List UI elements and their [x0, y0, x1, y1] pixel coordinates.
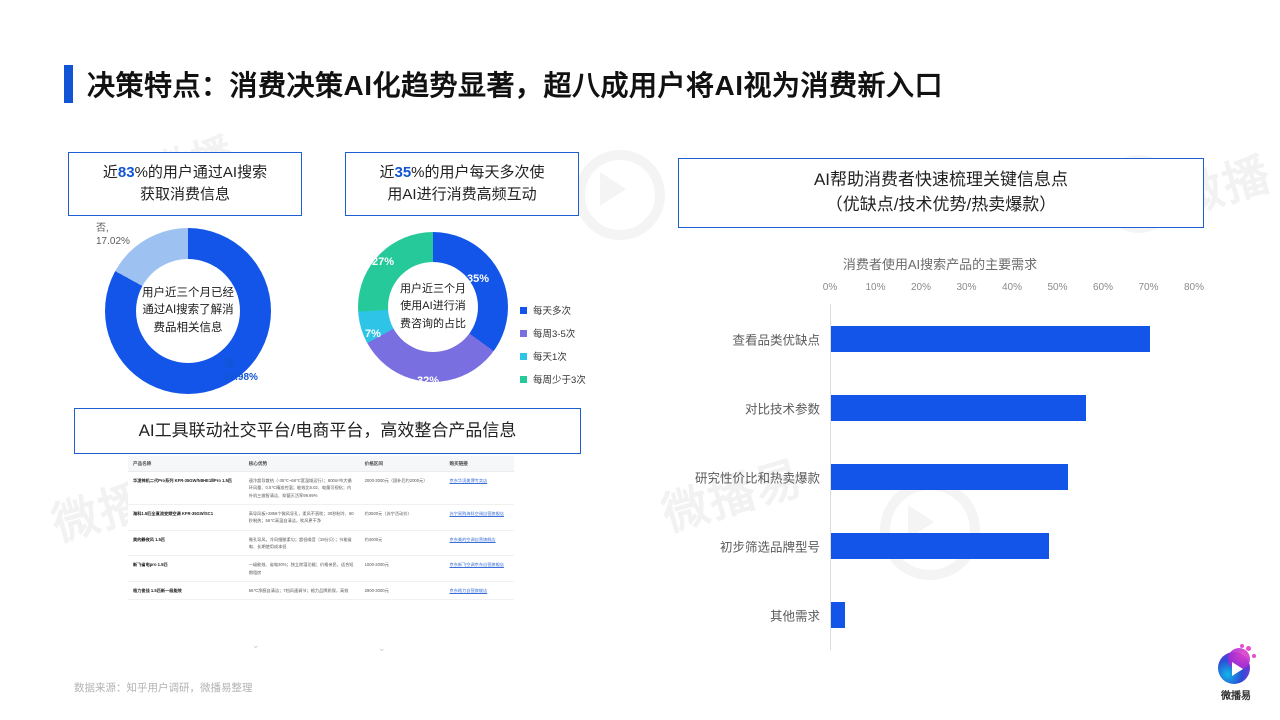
donut2-slice-label-0: 35%: [467, 272, 489, 286]
cell-advantage: 56℃净醛自清洁；7档风速调节；格力品牌质保，高效: [244, 582, 360, 600]
title-accent-bar: [64, 65, 73, 103]
category-label-4: 其他需求: [770, 606, 820, 625]
data-source: 数据来源：知乎用户调研，微播易整理: [74, 680, 253, 695]
callout4-line2: （优缺点/技术优势/热卖爆款）: [826, 195, 1056, 214]
donut2-slice-label-1: 32%: [417, 374, 439, 388]
legend-item-2: 每天1次: [520, 349, 586, 363]
donut2-center-line2: 使用AI进行消: [400, 300, 465, 312]
purchase-link[interactable]: 京东华凌美博专卖店: [450, 478, 488, 483]
purchase-link[interactable]: 京东新飞空调京东自营旗舰店: [450, 562, 504, 567]
cell-link[interactable]: 京东新飞空调京东自营旗舰店: [445, 556, 515, 582]
bar-2: [831, 464, 1068, 490]
donut2-slice-label-3: 27%: [372, 255, 394, 269]
cell-name: 新飞省电pro 1.5匹: [128, 556, 244, 582]
donut1-center-line2: 通过AI搜索了解消: [142, 304, 233, 316]
table-row: 海科1.5匹全直流变频空调 KFR-35GW/SC1 高导风板+2856个微风导…: [128, 505, 514, 531]
plot-area: 查看品类优缺点对比技术参数研究性价比和热卖爆款初步筛选品牌型号其他需求: [678, 304, 1202, 650]
callout2-number: 35: [394, 164, 411, 181]
bar-1: [831, 395, 1086, 421]
donut1-label-yes: 是, 82.98%: [224, 358, 258, 384]
cell-link[interactable]: 京东格力自营旗舰店: [445, 582, 515, 600]
category-label-2: 研究性价比和热卖爆款: [695, 468, 820, 487]
legend-swatch-icon: [520, 376, 527, 383]
x-tick-3: 30%: [956, 282, 976, 293]
slide: 微播 微播易 微播 微播易 微播 决策特点：消费决策AI化趋势显著，超八成用户将…: [0, 0, 1280, 720]
donut1-center-line3: 费品相关信息: [154, 322, 223, 334]
table-header-link: 购买链接: [445, 456, 515, 472]
callout2-pre: 近: [379, 164, 394, 181]
donut1-center-line1: 用户近三个月已经: [142, 287, 234, 299]
cell-price: 1000-2000元: [360, 556, 445, 582]
bar-4: [831, 602, 845, 628]
table-header-row: 产品名称 核心优势 价格区间 购买链接: [128, 456, 514, 472]
table-row: 华凌神机二代Pro系列 KFR-35GW/N8HE1ⅡPro 1.5匹 速冷超导…: [128, 472, 514, 505]
cell-advantage: 速冷超导散热（-35℃~68℃宽温域运行）；800m³/h大循环风量、0.5℃精…: [244, 472, 360, 505]
x-tick-7: 70%: [1138, 282, 1158, 293]
cell-price: 约3500元（苏宁活动价）: [360, 505, 445, 531]
legend-item-3: 每周少于3次: [520, 372, 586, 386]
bar-3: [831, 533, 1049, 559]
table-header-advantage: 核心优势: [244, 456, 360, 472]
legend-swatch-icon: [520, 353, 527, 360]
callout-ai-key-info: AI帮助消费者快速梳理关键信息点 （优缺点/技术优势/热卖爆款）: [678, 158, 1204, 228]
x-axis: 0%10%20%30%40%50%60%70%80%: [678, 282, 1202, 300]
donut2-center-line3: 费咨询的占比: [400, 318, 466, 330]
donut2-legend: 每天多次 每周3-5次 每天1次 每周少于3次: [520, 303, 586, 395]
category-label-0: 查看品类优缺点: [732, 329, 820, 348]
purchase-link[interactable]: 京东格力自营旗舰店: [450, 588, 488, 593]
brand-mark-icon: [1216, 646, 1256, 686]
title-text: 决策特点：消费决策AI化趋势显著，超八成用户将AI视为消费新入口: [87, 64, 943, 104]
donut1-center-label: 用户近三个月已经 通过AI搜索了解消 费品相关信息: [136, 259, 240, 363]
cell-link[interactable]: 京东华凌美博专卖店: [445, 472, 515, 505]
table-row: 格力俊佳 1.5匹新一级能效 56℃净醛自清洁；7档风速调节；格力品牌质保，高效…: [128, 582, 514, 600]
watermark-ring-icon: [575, 150, 665, 240]
cell-link[interactable]: 苏宁易购海科空调自营旗舰店: [445, 505, 515, 531]
cell-price: 2900-3000元: [360, 582, 445, 600]
legend-swatch-icon: [520, 307, 527, 314]
donut2-center-line1: 用户近三个月: [400, 283, 466, 295]
chart-title: 消费者使用AI搜索产品的主要需求: [678, 254, 1202, 273]
table: 产品名称 核心优势 价格区间 购买链接 华凌神机二代Pro系列 KFR-35GW…: [128, 456, 514, 600]
x-tick-2: 20%: [911, 282, 931, 293]
category-label-1: 对比技术参数: [745, 398, 820, 417]
x-tick-1: 10%: [865, 282, 885, 293]
callout-ai-search-share: 近83%的用户通过AI搜索 获取消费信息: [68, 152, 302, 216]
chevron-down-icon[interactable]: ⌄: [252, 640, 260, 651]
purchase-link[interactable]: 苏宁易购海科空调自营旗舰店: [450, 511, 504, 516]
brand-name: 微播易: [1204, 687, 1268, 702]
legend-item-1: 每周3-5次: [520, 326, 586, 340]
x-tick-4: 40%: [1002, 282, 1022, 293]
chevron-down-icon[interactable]: ⌄: [378, 643, 386, 654]
legend-item-0: 每天多次: [520, 303, 586, 317]
donut1-label-no: 否, 17.02%: [96, 222, 130, 248]
x-tick-5: 50%: [1047, 282, 1067, 293]
category-label-3: 初步筛选品牌型号: [720, 537, 820, 556]
table-header-name: 产品名称: [128, 456, 244, 472]
cell-name: 美的静夜风 1.5匹: [128, 530, 244, 556]
callout2-line2: 用AI进行消费高频互动: [387, 186, 536, 203]
legend-label-0: 每天多次: [533, 303, 571, 317]
legend-swatch-icon: [520, 330, 527, 337]
table-row: 新飞省电pro 1.5匹 一级能效、省电30%；独立除湿功能；价格亲民，适合短期…: [128, 556, 514, 582]
cell-link[interactable]: 京东美的空调自营旗舰店: [445, 530, 515, 556]
purchase-link[interactable]: 京东美的空调自营旗舰店: [450, 537, 496, 542]
cell-price: 约4000元: [360, 530, 445, 556]
bar-chart: 0%10%20%30%40%50%60%70%80% 查看品类优缺点对比技术参数…: [678, 282, 1202, 650]
legend-label-1: 每周3-5次: [533, 326, 575, 340]
donut2-center-label: 用户近三个月 使用AI进行消 费咨询的占比: [388, 262, 478, 352]
callout1-pre: 近: [103, 164, 118, 181]
product-comparison-table: 产品名称 核心优势 价格区间 购买链接 华凌神机二代Pro系列 KFR-35GW…: [128, 456, 514, 652]
legend-label-3: 每周少于3次: [533, 372, 586, 386]
cell-name: 格力俊佳 1.5匹新一级能效: [128, 582, 244, 600]
x-tick-8: 80%: [1184, 282, 1204, 293]
callout1-number: 83: [118, 164, 135, 181]
x-tick-0: 0%: [823, 282, 837, 293]
cell-name: 华凌神机二代Pro系列 KFR-35GW/N8HE1ⅡPro 1.5匹: [128, 472, 244, 505]
cell-name: 海科1.5匹全直流变频空调 KFR-35GW/SC1: [128, 505, 244, 531]
callout4-line1: AI帮助消费者快速梳理关键信息点: [814, 170, 1068, 189]
x-tick-6: 60%: [1093, 282, 1113, 293]
cell-advantage: 一级能效、省电30%；独立除湿功能；价格亲民，适合短期租房: [244, 556, 360, 582]
watermark-play-icon: [600, 172, 626, 206]
legend-label-2: 每天1次: [533, 349, 567, 363]
cell-price: 2000-3000元（国补后约2000元）: [360, 472, 445, 505]
table-header-price: 价格区间: [360, 456, 445, 472]
callout-ai-tool-integration: AI工具联动社交平台/电商平台，高效整合产品信息: [74, 408, 581, 454]
cell-advantage: 微孔导风，冷风细腻柔匀；超低噪音（28分贝）；节能省电、长期使用成本低: [244, 530, 360, 556]
page-title: 决策特点：消费决策AI化趋势显著，超八成用户将AI视为消费新入口: [64, 64, 943, 104]
brand-logo: 微播易: [1204, 646, 1268, 702]
bar-0: [831, 326, 1150, 352]
callout-daily-usage-share: 近35%的用户每天多次使 用AI进行消费高频互动: [345, 152, 579, 216]
table-row: 美的静夜风 1.5匹 微孔导风，冷风细腻柔匀；超低噪音（28分贝）；节能省电、长…: [128, 530, 514, 556]
cell-advantage: 高导风板+2856个微风导孔，柔风不直吹；30秒制冷、60秒制热；56℃高温自清…: [244, 505, 360, 531]
donut2-slice-label-2: 7%: [365, 327, 381, 341]
callout1-line2: 获取消费信息: [140, 186, 230, 203]
callout2-post: %的用户每天多次使: [411, 164, 544, 181]
callout1-post: %的用户通过AI搜索: [135, 164, 268, 181]
